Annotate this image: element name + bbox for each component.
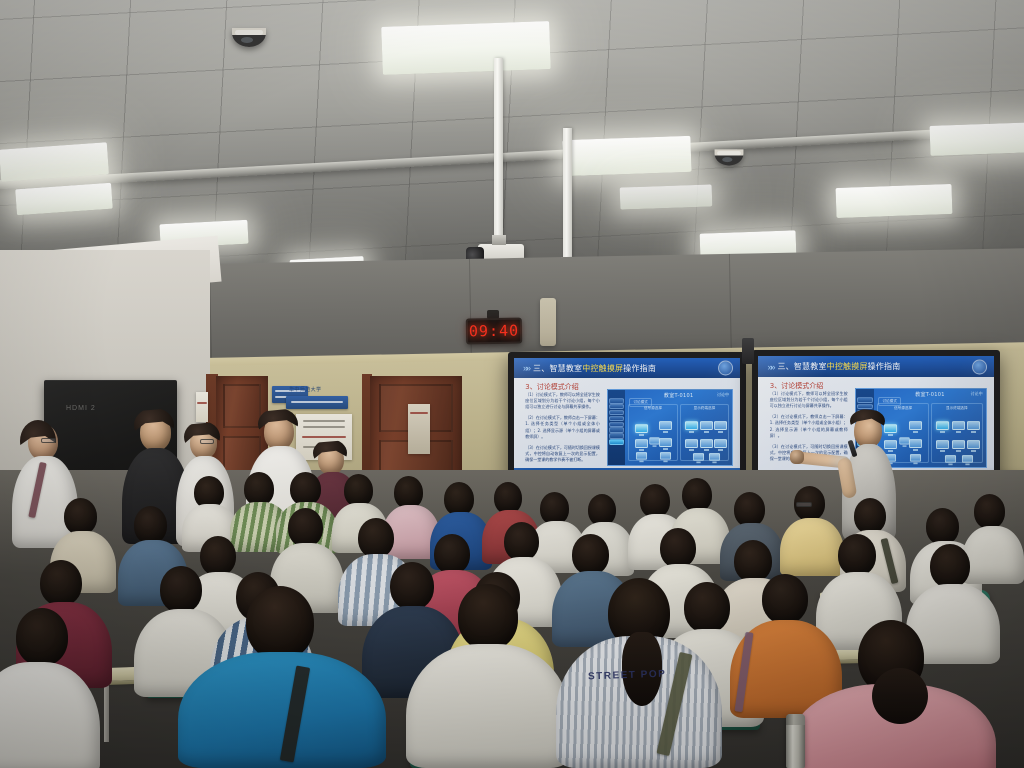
led-wall-clock: 09:40 bbox=[466, 318, 522, 345]
ceiling-light-9 bbox=[930, 122, 1024, 156]
monitor-icon[interactable] bbox=[709, 453, 720, 464]
eyeglasses-icon bbox=[200, 439, 214, 444]
monitor-icon[interactable] bbox=[936, 421, 949, 434]
rail-button[interactable] bbox=[609, 398, 624, 404]
terminal-zone: 显示终端选择 bbox=[931, 403, 982, 463]
chevron-right-icon: »» bbox=[767, 362, 773, 372]
monitor-icon[interactable] bbox=[936, 440, 949, 453]
slide-subtitle: 3、讨论模式介绍 bbox=[770, 381, 823, 391]
person-head bbox=[684, 582, 730, 633]
monitor-icon[interactable] bbox=[909, 421, 922, 434]
monitor-icon[interactable] bbox=[714, 421, 727, 434]
person-head bbox=[660, 528, 696, 568]
person-head bbox=[926, 508, 959, 545]
slide-logo-icon bbox=[718, 361, 733, 376]
person-head bbox=[734, 540, 772, 582]
monitor-icon[interactable] bbox=[659, 438, 672, 451]
camera-pole-right bbox=[563, 128, 572, 270]
monitor-icon[interactable] bbox=[660, 452, 671, 463]
person-head bbox=[16, 608, 68, 666]
person-head bbox=[434, 534, 470, 574]
slide-body-text: （1）讨论模式下，教师可以将全班学生按座位区域划分为若干个讨论小组，每个小组可以… bbox=[525, 392, 600, 469]
rail-button-active[interactable] bbox=[609, 439, 624, 445]
thermos-cap bbox=[786, 714, 805, 725]
terminal-zone: 显示终端选择 bbox=[680, 404, 729, 462]
person-head bbox=[244, 472, 274, 506]
camera-pole-left bbox=[494, 58, 503, 244]
rail-button[interactable] bbox=[857, 397, 872, 403]
person-body bbox=[780, 518, 844, 576]
control-panel-main: 教室T-0101 讨论中 讨论模式 信号源选择 bbox=[625, 390, 732, 465]
person-head bbox=[444, 482, 474, 516]
person-head bbox=[134, 506, 167, 544]
notice-line bbox=[303, 420, 346, 422]
door-panel bbox=[223, 384, 261, 428]
university-name-text: 华中师范大学 bbox=[289, 386, 321, 393]
slide-logo-icon bbox=[972, 359, 987, 374]
monitor-icon[interactable] bbox=[700, 439, 713, 452]
control-panel-rail bbox=[608, 390, 625, 465]
eyeglasses-icon bbox=[796, 502, 812, 507]
person-head bbox=[288, 508, 323, 547]
poster-accent-line bbox=[197, 402, 207, 404]
person-head bbox=[930, 544, 970, 588]
monitor-icon[interactable] bbox=[945, 455, 956, 466]
control-panel-status: 讨论中 bbox=[971, 391, 983, 397]
person-head bbox=[734, 492, 765, 527]
wall-poster-right bbox=[408, 404, 430, 454]
slide-header: »» 三、智慧教室中控触摸屏操作指南 bbox=[514, 358, 740, 378]
classroom-scene: 09:40 华中师范大学 HDMI 2 »» bbox=[0, 0, 1024, 768]
person-head bbox=[572, 534, 609, 575]
slide-subtitle: 3、讨论模式介绍 bbox=[525, 382, 578, 392]
ceiling-light-1 bbox=[381, 21, 551, 75]
monitor-icon[interactable] bbox=[967, 440, 980, 453]
slide-paragraph: （1）讨论模式下，教师可以将全班学生按座位区域划分为若干个讨论小组，每个小组可以… bbox=[770, 391, 848, 410]
desk-leg bbox=[104, 680, 109, 742]
slide-header: »» 三、智慧教室中控触摸屏操作指南 bbox=[758, 356, 994, 377]
slide-left: »» 三、智慧教室中控触摸屏操作指南 3、讨论模式介绍 （1）讨论模式下，教师可… bbox=[514, 358, 740, 478]
thermos-bottle bbox=[786, 714, 805, 768]
control-panel-main: 教室T-0101 讨论中 讨论模式 信号源选择 bbox=[874, 389, 986, 466]
slide-paragraph: （2）在讨论模式下，教师点击一下屏幕：1. 选择任务类型（单个小组或全体小组）；… bbox=[525, 415, 600, 440]
ceiling-light-10 bbox=[620, 184, 713, 209]
chevron-right-icon: »» bbox=[523, 363, 529, 373]
poster-accent-line bbox=[410, 412, 428, 414]
person-head bbox=[160, 566, 202, 613]
clock-time: 09:40 bbox=[469, 322, 519, 341]
slide-paragraph: （1）讨论模式下，教师可以将全班学生按座位区域划分为若干个讨论小组，每个小组可以… bbox=[525, 392, 600, 411]
rail-button[interactable] bbox=[609, 404, 624, 410]
notice-accent-line bbox=[302, 436, 347, 438]
ceiling-light-2 bbox=[562, 136, 691, 176]
monitor-icon[interactable] bbox=[909, 439, 922, 452]
monitor-icon[interactable] bbox=[952, 421, 965, 434]
slide-header-text: 三、智慧教室中控触摸屏操作指南 bbox=[533, 363, 656, 374]
person-head bbox=[390, 562, 434, 610]
person-head bbox=[246, 586, 314, 660]
rail-button[interactable] bbox=[609, 433, 624, 439]
notice-line bbox=[303, 426, 346, 428]
monitor-icon[interactable] bbox=[700, 421, 713, 434]
person-head bbox=[854, 498, 886, 534]
eyeglasses-icon bbox=[41, 438, 56, 443]
ceiling-light-8 bbox=[836, 184, 953, 218]
wall-plaque-smart-classroom bbox=[286, 396, 348, 409]
source-zone: 信号源选择 bbox=[628, 404, 677, 462]
camera-bracket bbox=[492, 235, 506, 245]
person-head bbox=[974, 494, 1005, 529]
source-zone-label: 信号源选择 bbox=[878, 406, 927, 411]
plaque-text-line bbox=[291, 401, 343, 403]
monitor-icon[interactable] bbox=[635, 424, 648, 437]
person-head bbox=[640, 484, 670, 518]
rack-label: HDMI 2 bbox=[66, 405, 96, 412]
rail-button[interactable] bbox=[609, 422, 624, 428]
control-panel-screenshot: 教室T-0101 讨论中 讨论模式 信号源选择 bbox=[607, 389, 734, 466]
monitor-icon[interactable] bbox=[884, 424, 897, 437]
monitor-icon[interactable] bbox=[884, 440, 897, 453]
slide-paragraph: （3）在讨论模式下，可随时切换回授课模式，中控将自动恢复上一次的显示配置，确保一… bbox=[525, 445, 600, 464]
rail-button[interactable] bbox=[609, 416, 624, 422]
slide-header-text: 三、智慧教室中控触摸屏操作指南 bbox=[777, 361, 900, 372]
slide-paragraph: （2）在讨论模式下，教师点击一下屏幕：1. 选择任务类型（单个小组或全体小组）；… bbox=[770, 414, 848, 439]
person-head bbox=[458, 584, 518, 650]
terminal-zone-label: 显示终端选择 bbox=[932, 406, 981, 411]
monitor-icon[interactable] bbox=[635, 439, 648, 452]
control-panel-status: 讨论中 bbox=[717, 392, 729, 398]
monitor-icon[interactable] bbox=[659, 421, 672, 434]
monitor-icon[interactable] bbox=[952, 440, 965, 453]
person-body bbox=[406, 644, 570, 768]
monitor-icon[interactable] bbox=[693, 453, 704, 464]
rail-button[interactable] bbox=[609, 427, 624, 433]
monitor-icon[interactable] bbox=[685, 421, 698, 434]
wall-poster-small bbox=[196, 392, 208, 422]
display-mount-post bbox=[742, 338, 754, 364]
monitor-icon[interactable] bbox=[967, 421, 980, 434]
person-head bbox=[358, 518, 394, 558]
monitor-icon[interactable] bbox=[962, 455, 973, 466]
rail-button[interactable] bbox=[857, 404, 872, 410]
person-head bbox=[290, 472, 321, 506]
person-body bbox=[962, 526, 1024, 584]
person-head bbox=[682, 478, 712, 512]
wall-speaker bbox=[540, 298, 556, 346]
monitor-icon[interactable] bbox=[636, 452, 647, 463]
person-head bbox=[40, 560, 82, 606]
person-head bbox=[64, 498, 97, 535]
display-left-screen: »» 三、智慧教室中控触摸屏操作指南 3、讨论模式介绍 （1）讨论模式下，教师可… bbox=[514, 358, 740, 478]
monitor-icon[interactable] bbox=[714, 439, 727, 452]
source-zone-label: 信号源选择 bbox=[629, 406, 676, 411]
terminal-zone-label: 显示终端选择 bbox=[681, 406, 728, 411]
person-head bbox=[762, 574, 808, 624]
hair-bun bbox=[872, 668, 928, 724]
person-head bbox=[200, 536, 236, 576]
monitor-icon[interactable] bbox=[685, 439, 698, 452]
rail-button[interactable] bbox=[609, 410, 624, 416]
presenter-hand bbox=[790, 450, 804, 464]
monitor-icon[interactable] bbox=[910, 454, 921, 465]
person-head bbox=[838, 534, 876, 576]
person-head bbox=[504, 522, 539, 561]
